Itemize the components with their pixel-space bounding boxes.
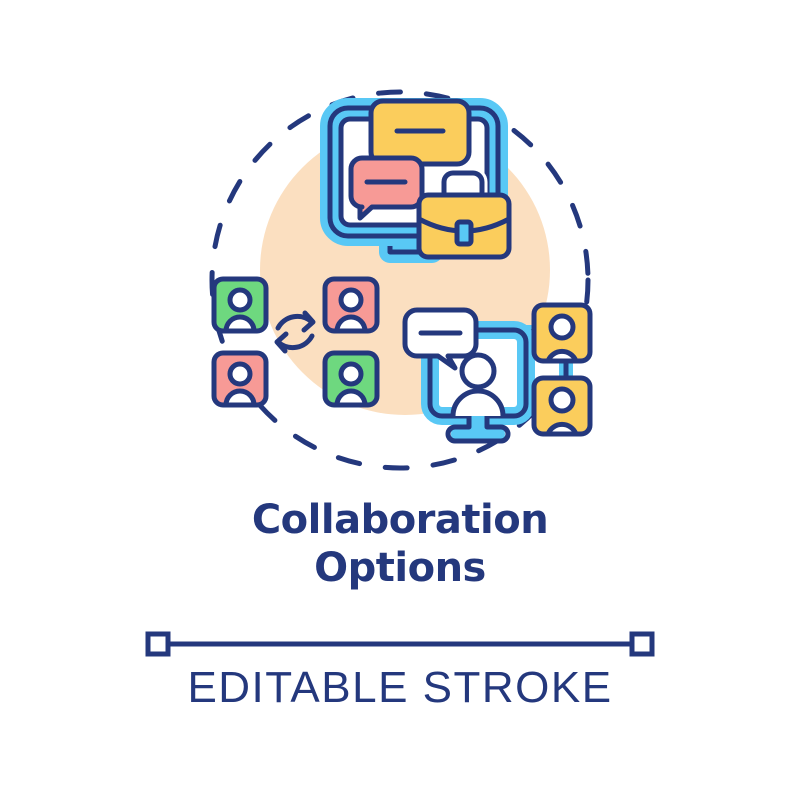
title-line-1: Collaboration bbox=[0, 496, 800, 544]
editable-stroke-label: EDITABLE STROKE bbox=[0, 660, 800, 716]
avatar-tile-green-bottom-right bbox=[325, 353, 377, 405]
illustration-area bbox=[0, 0, 800, 500]
avatar-tile-pink-bottom-left bbox=[214, 353, 266, 405]
title-line-2: Options bbox=[0, 544, 800, 592]
avatar-tile-yellow-upper bbox=[534, 305, 590, 361]
divider-handle-left bbox=[148, 634, 168, 654]
speech-bubble-pink bbox=[351, 158, 422, 218]
page-title: Collaboration Options bbox=[0, 496, 800, 592]
divider-handle-right bbox=[632, 634, 652, 654]
avatar-tile-yellow-lower bbox=[534, 378, 590, 434]
editable-stroke-divider bbox=[0, 624, 800, 664]
avatar-tile-pink-top-right bbox=[325, 279, 377, 331]
avatar-tile-green-top-left bbox=[214, 279, 266, 331]
concept-icon-page: Collaboration Options EDITABLE STROKE bbox=[0, 0, 800, 800]
